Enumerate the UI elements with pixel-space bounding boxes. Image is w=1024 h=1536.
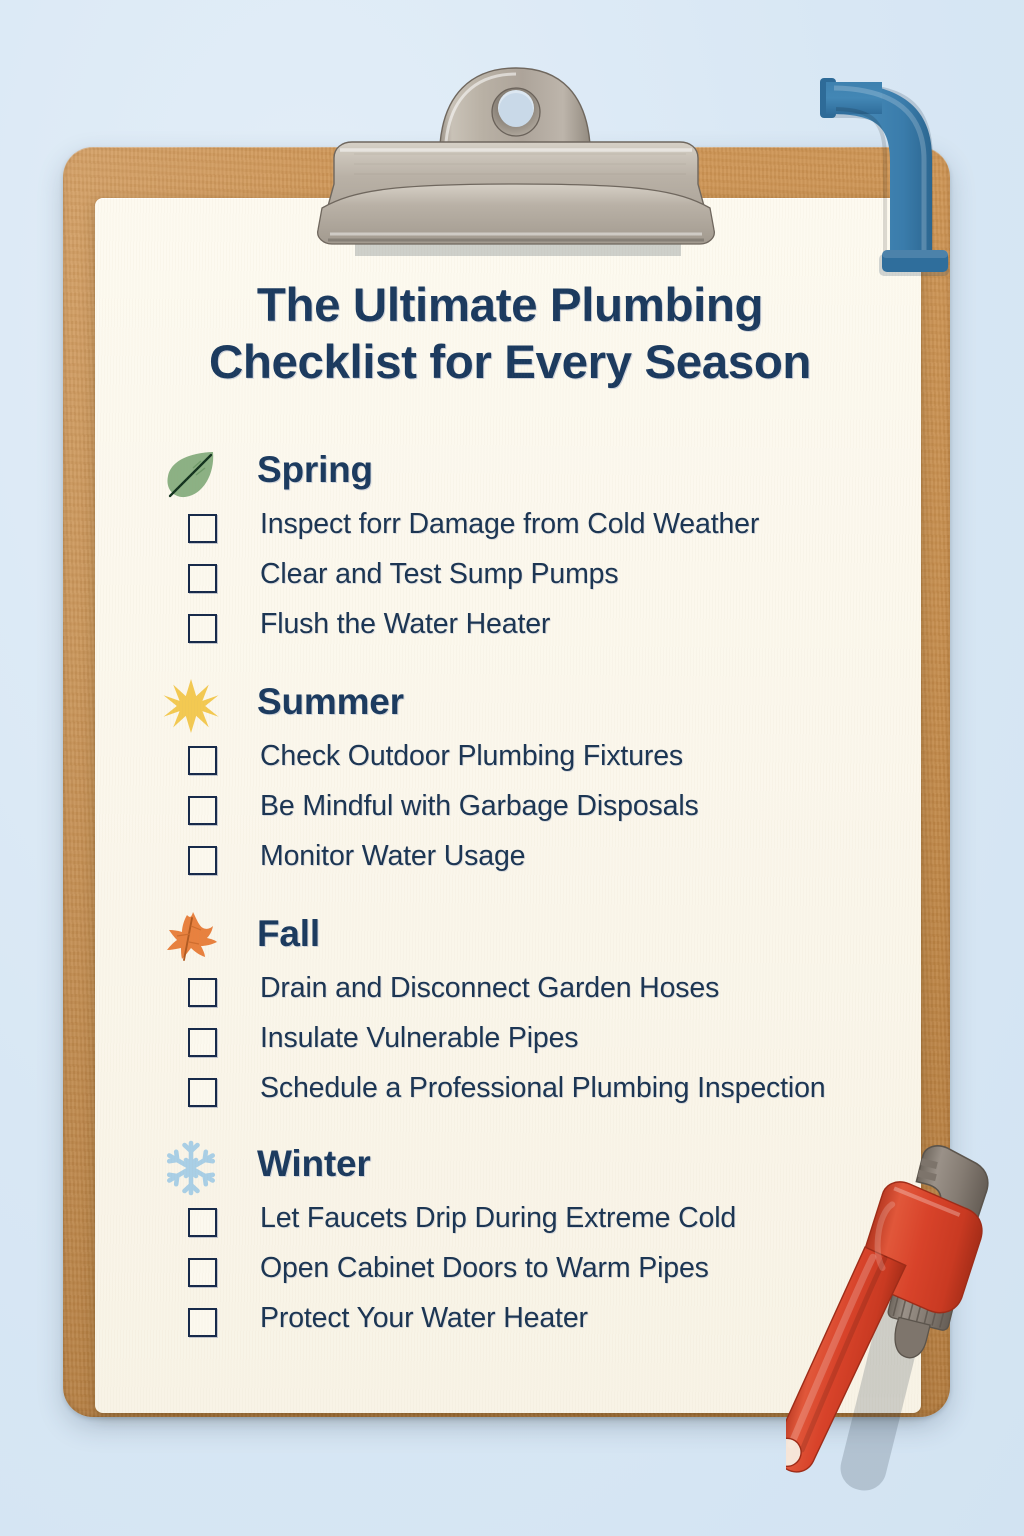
checklist-row[interactable]: Clear and Test Sump Pumps — [95, 556, 921, 606]
checklist-item-label: Monitor Water Usage — [260, 840, 525, 873]
season-items-summer: Check Outdoor Plumbing Fixtures Be Mindf… — [95, 738, 921, 888]
checkbox[interactable] — [188, 514, 217, 543]
checklist-row[interactable]: Schedule a Professional Plumbing Inspect… — [95, 1070, 921, 1120]
page-title-line1: The Ultimate Plumbing — [139, 278, 881, 335]
checklist-item-label: Flush the Water Heater — [260, 608, 550, 641]
season-title-summer: Summer — [257, 681, 404, 723]
checklist-row[interactable]: Be Mindful with Garbage Disposals — [95, 788, 921, 838]
sun-icon — [163, 678, 219, 734]
checklist-item-label: Let Faucets Drip During Extreme Cold — [260, 1202, 736, 1235]
season-header-summer: Summer — [95, 678, 921, 734]
checkbox[interactable] — [188, 1208, 217, 1237]
checkbox[interactable] — [188, 846, 217, 875]
checkbox[interactable] — [188, 796, 217, 825]
checkbox[interactable] — [188, 1078, 217, 1107]
checklist-item-label: Be Mindful with Garbage Disposals — [260, 790, 699, 823]
season-title-spring: Spring — [257, 449, 373, 491]
snowflake-icon — [163, 1140, 219, 1196]
clip-icon — [290, 56, 740, 256]
checklist-row[interactable]: Flush the Water Heater — [95, 606, 921, 656]
checkbox[interactable] — [188, 1308, 217, 1337]
checkbox[interactable] — [188, 978, 217, 1007]
checkbox[interactable] — [188, 614, 217, 643]
checklist-row[interactable]: Monitor Water Usage — [95, 838, 921, 888]
pipe-elbow-icon — [802, 62, 974, 287]
checklist-item-label: Open Cabinet Doors to Warm Pipes — [260, 1252, 709, 1285]
checklist-item-label: Drain and Disconnect Garden Hoses — [260, 972, 719, 1005]
season-header-fall: Fall — [95, 910, 921, 966]
season-title-winter: Winter — [257, 1143, 371, 1185]
checkbox[interactable] — [188, 564, 217, 593]
checklist-row[interactable]: Insulate Vulnerable Pipes — [95, 1020, 921, 1070]
checklist-row[interactable]: Inspect forr Damage from Cold Weather — [95, 506, 921, 556]
checklist-item-label: Insulate Vulnerable Pipes — [260, 1022, 578, 1055]
season-header-spring: Spring — [95, 446, 921, 502]
checkbox[interactable] — [188, 1028, 217, 1057]
pipe-wrench-icon — [786, 1138, 1016, 1506]
checklist-row[interactable]: Check Outdoor Plumbing Fixtures — [95, 738, 921, 788]
checklist-item-label: Check Outdoor Plumbing Fixtures — [260, 740, 683, 773]
season-section-spring: Spring Inspect forr Damage from Cold Wea… — [95, 446, 921, 656]
page-title: The Ultimate Plumbing Checklist for Ever… — [139, 278, 881, 391]
page-title-line2: Checklist for Every Season — [139, 335, 881, 392]
checkbox[interactable] — [188, 746, 217, 775]
season-items-fall: Drain and Disconnect Garden Hoses Insula… — [95, 970, 921, 1120]
season-section-fall: Fall Drain and Disconnect Garden Hoses I… — [95, 910, 921, 1120]
season-title-fall: Fall — [257, 913, 320, 955]
checklist-item-label: Clear and Test Sump Pumps — [260, 558, 618, 591]
season-items-spring: Inspect forr Damage from Cold Weather Cl… — [95, 506, 921, 656]
checklist-item-label: Inspect forr Damage from Cold Weather — [260, 508, 759, 541]
maple-leaf-icon — [163, 910, 219, 966]
checkbox[interactable] — [188, 1258, 217, 1287]
checklist-row[interactable]: Drain and Disconnect Garden Hoses — [95, 970, 921, 1020]
checklist-item-label: Protect Your Water Heater — [260, 1302, 588, 1335]
season-section-summer: Summer Check Outdoor Plumbing Fixtures B… — [95, 678, 921, 888]
leaf-icon — [163, 446, 219, 502]
checklist-item-label: Schedule a Professional Plumbing Inspect… — [260, 1072, 826, 1105]
